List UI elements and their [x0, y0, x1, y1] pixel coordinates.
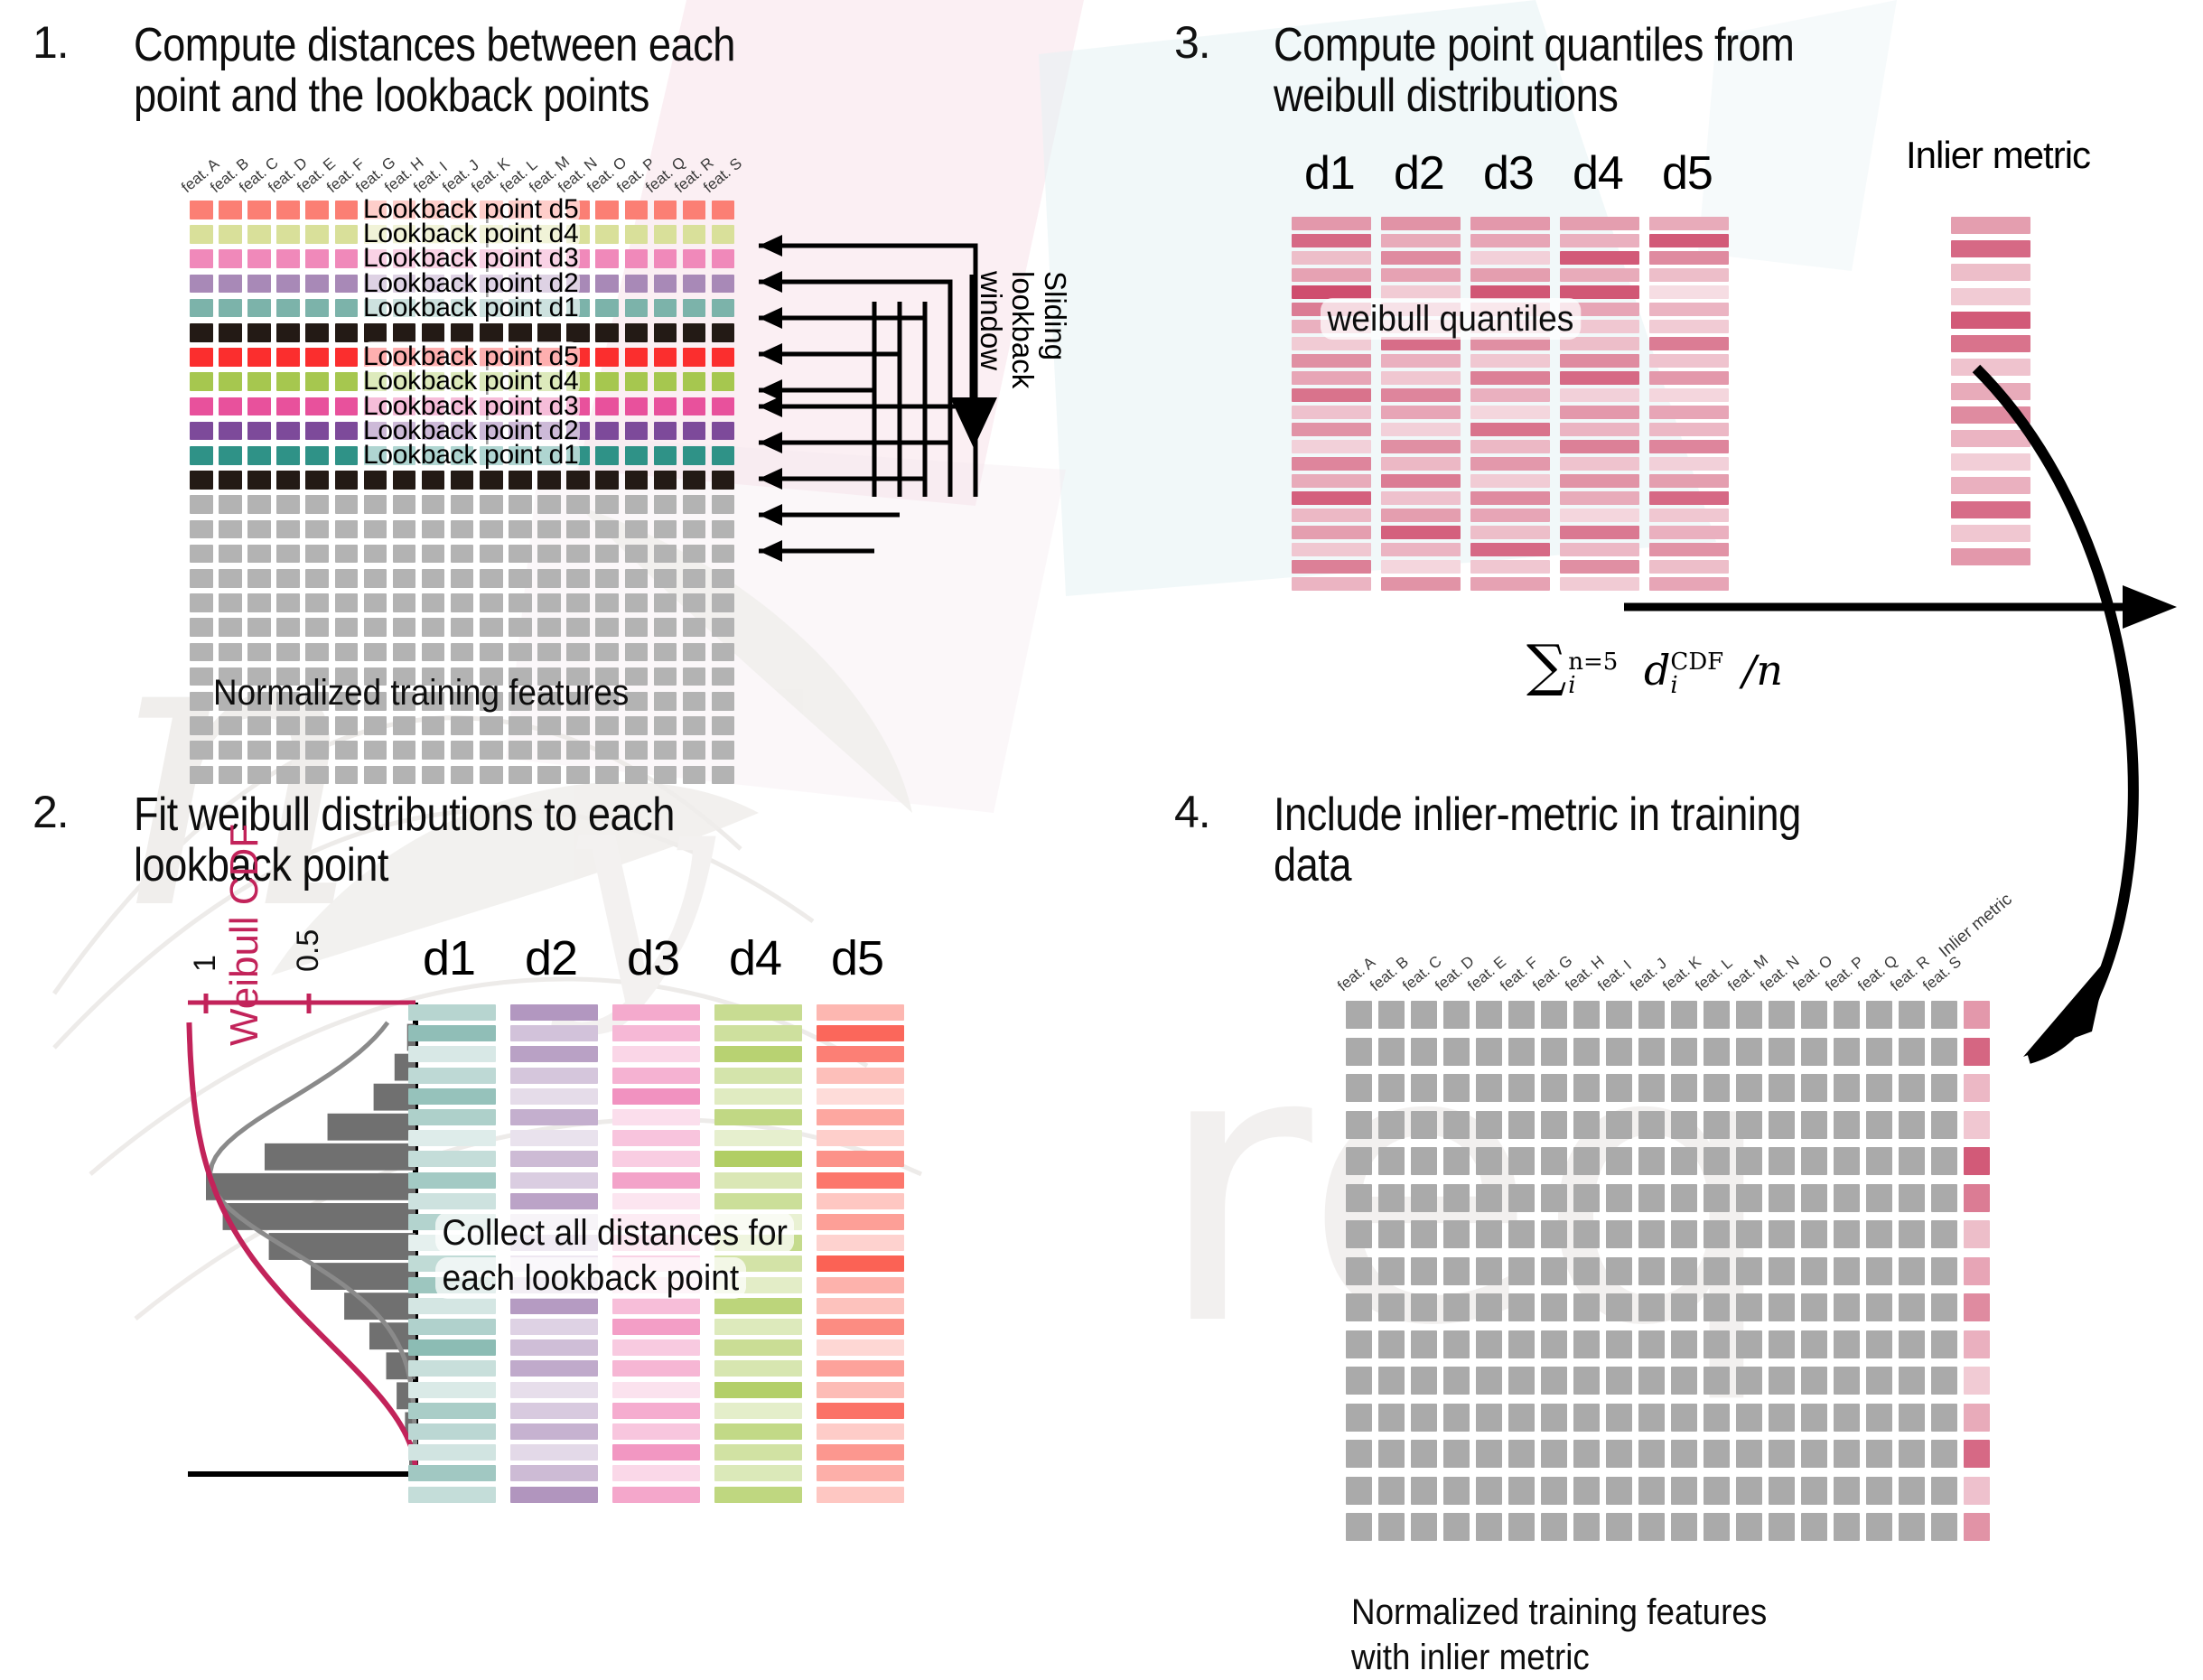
stripe-cell	[1649, 406, 1729, 419]
stripe-cell	[1381, 457, 1461, 471]
stripe-cell	[1292, 543, 1371, 556]
grid-cell	[1736, 1404, 1762, 1432]
grid-cell	[1541, 1184, 1567, 1212]
grid-cell	[1866, 1513, 1892, 1541]
stripe-cell	[1560, 354, 1639, 368]
grid-cell	[1378, 1477, 1405, 1505]
stripe-cell	[1292, 423, 1371, 436]
grid-cell	[1899, 1330, 1925, 1358]
grid-cell	[335, 741, 359, 760]
grid-cell	[1573, 1111, 1600, 1139]
grid-cell	[1931, 1293, 1957, 1321]
grid-cell	[1443, 1477, 1470, 1505]
stripe-cell	[1292, 371, 1371, 385]
stripe-cell	[612, 1360, 700, 1377]
grid-cell	[1476, 1440, 1502, 1468]
stripe-cell	[1381, 543, 1461, 556]
stripe-cell	[714, 1339, 802, 1356]
grid-cell	[1443, 1001, 1470, 1029]
grid-cell	[1378, 1074, 1405, 1102]
stripe-cell	[612, 1487, 700, 1503]
grid-row	[1346, 1111, 1996, 1139]
grid-cell	[1443, 1330, 1470, 1358]
grid-cell	[1411, 1111, 1437, 1139]
grid-cell	[1346, 1330, 1372, 1358]
grid-cell	[1411, 1440, 1437, 1468]
grid-cell	[1834, 1111, 1860, 1139]
grid-cell	[1638, 1220, 1665, 1248]
grid-cell	[1443, 1111, 1470, 1139]
grid-cell	[1411, 1257, 1437, 1285]
stripe-cell	[714, 1088, 802, 1105]
grid-cell	[1801, 1038, 1827, 1066]
grid-cell	[1541, 1404, 1567, 1432]
stripe-cell	[1649, 388, 1729, 402]
stripe-cell	[1292, 577, 1371, 591]
grid-cell	[1411, 1147, 1437, 1175]
grid-cell	[1736, 1111, 1762, 1139]
stripe-cell	[1649, 423, 1729, 436]
grid-cell	[1801, 1220, 1827, 1248]
grid-row	[1346, 1440, 1996, 1468]
inlier-metric-cell	[1964, 1367, 1990, 1395]
grid-cell	[1736, 1184, 1762, 1212]
stripe-cell	[1292, 440, 1371, 453]
grid-cell	[1671, 1440, 1697, 1468]
grid-cell	[1346, 1513, 1372, 1541]
grid-cell	[1931, 1257, 1957, 1285]
grid-cell	[1443, 1367, 1470, 1395]
grid-cell	[1476, 1001, 1502, 1029]
stripe-cell	[510, 1487, 598, 1503]
grid-cell	[1866, 1184, 1892, 1212]
inlier-metric-stripe	[1951, 217, 2030, 234]
grid-cell	[1378, 1038, 1405, 1066]
grid-row	[1346, 1513, 1996, 1541]
stripe-cell	[817, 1004, 904, 1021]
grid-cell	[1671, 1404, 1697, 1432]
grid-cell	[1834, 1038, 1860, 1066]
stripe-cell	[408, 1025, 496, 1041]
grid-cell	[1573, 1513, 1600, 1541]
grid-cell	[1476, 1074, 1502, 1102]
stripe-cell	[1381, 526, 1461, 539]
grid-cell	[1573, 1220, 1600, 1248]
stripe-cell	[714, 1444, 802, 1461]
grid-cell	[1736, 1257, 1762, 1285]
grid-cell	[1866, 1111, 1892, 1139]
stripe-cell	[1381, 234, 1461, 247]
grid-cell	[1573, 1477, 1600, 1505]
stripe-cell	[612, 1025, 700, 1041]
grid-cell	[1704, 1038, 1730, 1066]
grid-cell	[1769, 1404, 1795, 1432]
grid-cell	[1476, 1513, 1502, 1541]
stripe-cell	[714, 1423, 802, 1440]
grid-cell	[1801, 1293, 1827, 1321]
grid-cell	[1801, 1513, 1827, 1541]
grid-cell	[1508, 1440, 1535, 1468]
sliding-window-label: Sliding lookback window	[975, 271, 1071, 388]
grid-cell	[1801, 1074, 1827, 1102]
grid-cell	[1769, 1367, 1795, 1395]
stripe-cell	[612, 1046, 700, 1062]
grid-cell	[1411, 1330, 1437, 1358]
grid-cell	[1541, 1330, 1567, 1358]
stripe-cell	[1649, 543, 1729, 556]
grid-cell	[1606, 1184, 1632, 1212]
grid-cell	[1606, 1074, 1632, 1102]
stripe-cell	[612, 1382, 700, 1398]
stripe-cell	[1560, 388, 1639, 402]
grid-cell	[625, 741, 649, 760]
stripe-cell	[510, 1088, 598, 1105]
stripe-cell	[1292, 354, 1371, 368]
grid-cell	[1476, 1257, 1502, 1285]
stripe-cell	[714, 1130, 802, 1146]
panel-2-overlay-label: Collect all distances for each lookback …	[435, 1165, 873, 1301]
grid-cell	[1378, 1404, 1405, 1432]
stripe-cell	[510, 1130, 598, 1146]
grid-row	[1346, 1293, 1996, 1321]
grid-cell	[1573, 1330, 1600, 1358]
stripe-cell	[408, 1444, 496, 1461]
grid-cell	[1346, 1038, 1372, 1066]
inlier-metric-cell	[1964, 1147, 1990, 1175]
grid-cell	[1834, 1257, 1860, 1285]
grid-cell	[1638, 1404, 1665, 1432]
grid-cell	[1671, 1001, 1697, 1029]
grid-cell	[1801, 1184, 1827, 1212]
stripe-cell	[1381, 371, 1461, 385]
grid-cell	[1541, 1220, 1567, 1248]
inlier-metric-stripe	[1951, 288, 2030, 305]
grid-cell	[1541, 1513, 1567, 1541]
stripe-cell	[714, 1004, 802, 1021]
grid-cell	[1736, 1001, 1762, 1029]
stripe-cell	[408, 1487, 496, 1503]
grid-cell	[1476, 1330, 1502, 1358]
grid-cell	[1508, 1404, 1535, 1432]
grid-cell	[537, 741, 561, 760]
grid-cell	[451, 741, 474, 760]
grid-cell	[1443, 1074, 1470, 1102]
grid-cell	[1801, 1404, 1827, 1432]
grid-cell	[1606, 1330, 1632, 1358]
grid-cell	[1476, 1477, 1502, 1505]
grid-cell	[1769, 1111, 1795, 1139]
grid-cell	[1411, 1404, 1437, 1432]
stripe-cell	[1381, 354, 1461, 368]
grid-cell	[1769, 1477, 1795, 1505]
stripe-cell	[1560, 509, 1639, 522]
grid-cell	[1508, 1477, 1535, 1505]
stripe-cell	[817, 1025, 904, 1041]
stripe-cell	[817, 1382, 904, 1398]
grid-cell	[595, 741, 619, 760]
inlier-metric-stripe	[1951, 240, 2030, 257]
grid-cell	[1736, 1147, 1762, 1175]
stripe-cell	[510, 1025, 598, 1041]
grid-cell	[1801, 1001, 1827, 1029]
grid-cell	[393, 741, 416, 760]
grid-cell	[1671, 1147, 1697, 1175]
grid-cell	[1508, 1513, 1535, 1541]
grid-cell	[1508, 1220, 1535, 1248]
column-header: d4	[1573, 146, 1623, 201]
grid-cell	[1704, 1074, 1730, 1102]
grid-cell	[1704, 1001, 1730, 1029]
stripe-cell	[714, 1025, 802, 1041]
stripe-cell	[510, 1382, 598, 1398]
grid-cell	[247, 741, 271, 760]
stripe-cell	[612, 1109, 700, 1125]
grid-cell	[190, 741, 213, 760]
inlier-metric-transfer-arrow-icon	[1870, 361, 2203, 1102]
grid-cell	[1411, 1477, 1437, 1505]
grid-cell	[1541, 1293, 1567, 1321]
stripe-cell	[1470, 371, 1550, 385]
grid-row	[1346, 1404, 1996, 1432]
grid-cell	[1671, 1074, 1697, 1102]
grid-cell	[1606, 1367, 1632, 1395]
stripe-cell	[1381, 491, 1461, 505]
stripe-cell	[612, 1004, 700, 1021]
grid-cell	[1769, 1001, 1795, 1029]
grid-cell	[1508, 1257, 1535, 1285]
grid-cell	[1541, 1111, 1567, 1139]
stripe-cell	[1292, 560, 1371, 574]
grid-cell	[1671, 1111, 1697, 1139]
grid-cell	[1638, 1257, 1665, 1285]
grid-cell	[1899, 1404, 1925, 1432]
panel-3-inlier-metric-label: Inlier metric	[1906, 134, 2090, 177]
stripe-cell	[714, 1109, 802, 1125]
column-header: d1	[423, 930, 475, 986]
grid-cell	[1931, 1367, 1957, 1395]
grid-cell	[1346, 1404, 1372, 1432]
stripe-cell	[1649, 440, 1729, 453]
grid-row	[1346, 1367, 1996, 1395]
stripe-cell	[714, 1465, 802, 1481]
grid-cell	[1541, 1001, 1567, 1029]
grid-cell	[1378, 1111, 1405, 1139]
grid-cell	[1638, 1001, 1665, 1029]
grid-cell	[1899, 1257, 1925, 1285]
inlier-metric-cell	[1964, 1257, 1990, 1285]
grid-cell	[1866, 1330, 1892, 1358]
grid-cell	[1866, 1293, 1892, 1321]
stripe-cell	[1470, 543, 1550, 556]
grid-cell	[1736, 1513, 1762, 1541]
grid-cell	[1606, 1513, 1632, 1541]
grid-cell	[1834, 1184, 1860, 1212]
grid-cell	[1834, 1147, 1860, 1175]
grid-cell	[1606, 1147, 1632, 1175]
grid-cell	[1899, 1147, 1925, 1175]
grid-cell	[1704, 1477, 1730, 1505]
stripe-cell	[1560, 560, 1639, 574]
stripe-cell	[1649, 474, 1729, 488]
stripe-cell	[1560, 234, 1639, 247]
stripe-cell	[1649, 457, 1729, 471]
stripe-cell	[1470, 509, 1550, 522]
grid-cell	[1346, 1367, 1372, 1395]
grid-cell	[1346, 1001, 1372, 1029]
grid-cell	[1834, 1220, 1860, 1248]
grid-cell	[1704, 1440, 1730, 1468]
stripe-cell	[1292, 217, 1371, 230]
grid-cell	[1704, 1147, 1730, 1175]
grid-cell	[654, 741, 677, 760]
inlier-metric-cell	[1964, 1513, 1990, 1541]
grid-cell	[422, 741, 445, 760]
stripe-cell	[1292, 509, 1371, 522]
grid-cell	[1736, 1074, 1762, 1102]
grid-cell	[1671, 1184, 1697, 1212]
stripe-cell	[408, 1046, 496, 1062]
grid-cell	[1801, 1111, 1827, 1139]
grid-cell	[1704, 1184, 1730, 1212]
stripe-cell	[408, 1465, 496, 1481]
stripe-cell	[408, 1319, 496, 1335]
grid-cell	[1801, 1330, 1827, 1358]
grid-cell	[1606, 1404, 1632, 1432]
grid-cell	[1931, 1404, 1957, 1432]
grid-cell	[1931, 1184, 1957, 1212]
grid-cell	[219, 741, 242, 760]
grid-cell	[1638, 1293, 1665, 1321]
grid-cell	[1931, 1477, 1957, 1505]
grid-cell	[1899, 1477, 1925, 1505]
column-header: d2	[1394, 146, 1444, 201]
grid-cell	[1573, 1257, 1600, 1285]
grid-cell	[566, 741, 590, 760]
grid-cell	[1378, 1147, 1405, 1175]
grid-cell	[1671, 1038, 1697, 1066]
grid-cell	[1541, 1257, 1567, 1285]
lookback-point-row-label: Lookback point d1	[361, 293, 580, 323]
grid-cell	[1931, 1513, 1957, 1541]
grid-cell	[1378, 1001, 1405, 1029]
stripe-cell	[510, 1465, 598, 1481]
stripe-cell	[714, 1487, 802, 1503]
grid-cell	[1736, 1293, 1762, 1321]
grid-cell	[1638, 1111, 1665, 1139]
grid-cell	[1443, 1220, 1470, 1248]
grid-cell	[1736, 1038, 1762, 1066]
grid-cell	[1378, 1330, 1405, 1358]
stripe-cell	[1381, 406, 1461, 419]
stripe-cell	[817, 1109, 904, 1125]
grid-cell	[1508, 1111, 1535, 1139]
stripe-cell	[714, 1360, 802, 1377]
grid-cell	[1573, 1440, 1600, 1468]
grid-cell	[1671, 1367, 1697, 1395]
grid-cell	[1801, 1257, 1827, 1285]
grid-cell	[1834, 1074, 1860, 1102]
stripe-cell	[817, 1339, 904, 1356]
stripe-cell	[612, 1319, 700, 1335]
stripe-cell	[1381, 474, 1461, 488]
column-header: d2	[525, 930, 577, 986]
grid-cell	[1508, 1367, 1535, 1395]
grid-cell	[1508, 1038, 1535, 1066]
grid-cell	[1346, 1440, 1372, 1468]
inlier-metric-cell	[1964, 1184, 1990, 1212]
stripe-cell	[1292, 457, 1371, 471]
stripe-cell	[612, 1444, 700, 1461]
stripe-cell	[1649, 354, 1729, 368]
grid-cell	[1411, 1367, 1437, 1395]
grid-cell	[1704, 1367, 1730, 1395]
grid-row	[1346, 1257, 1996, 1285]
stripe-cell	[510, 1046, 598, 1062]
grid-cell	[683, 741, 706, 760]
grid-cell	[1671, 1293, 1697, 1321]
stripe-cell	[510, 1068, 598, 1084]
feature-label: feat. J	[1627, 955, 1670, 995]
stripe-cell	[817, 1487, 904, 1503]
column-header: d3	[1483, 146, 1534, 201]
stripe-cell	[1649, 526, 1729, 539]
grid-cell	[1801, 1367, 1827, 1395]
stripe-cell	[817, 1046, 904, 1062]
stripe-cell	[1470, 388, 1550, 402]
stripe-cell	[1381, 217, 1461, 230]
stripe-cell	[1470, 491, 1550, 505]
grid-cell	[1508, 1074, 1535, 1102]
grid-cell	[1866, 1440, 1892, 1468]
grid-cell	[1606, 1477, 1632, 1505]
grid-cell	[1834, 1477, 1860, 1505]
grid-cell	[1866, 1477, 1892, 1505]
stripe-cell	[1649, 234, 1729, 247]
grid-cell	[1476, 1184, 1502, 1212]
stripe-cell	[1381, 577, 1461, 591]
stripe-cell	[1381, 440, 1461, 453]
grid-cell	[1606, 1293, 1632, 1321]
stripe-cell	[1292, 406, 1371, 419]
grid-cell	[1769, 1184, 1795, 1212]
grid-cell	[1899, 1513, 1925, 1541]
stripe-cell	[1292, 388, 1371, 402]
grid-cell	[1476, 1404, 1502, 1432]
inlier-metric-cell	[1964, 1404, 1990, 1432]
stripe-cell	[510, 1339, 598, 1356]
stripe-cell	[817, 1068, 904, 1084]
grid-cell	[1476, 1147, 1502, 1175]
grid-cell	[1899, 1220, 1925, 1248]
grid-cell	[1931, 1111, 1957, 1139]
grid-cell	[1573, 1184, 1600, 1212]
grid-row	[1346, 1184, 1996, 1212]
grid-cell	[1573, 1001, 1600, 1029]
grid-cell	[1866, 1257, 1892, 1285]
stripe-cell	[1560, 457, 1639, 471]
grid-cell	[1834, 1513, 1860, 1541]
grid-cell	[1638, 1330, 1665, 1358]
grid-cell	[1638, 1477, 1665, 1505]
inlier-metric-cell	[1964, 1111, 1990, 1139]
grid-cell	[1508, 1001, 1535, 1029]
stripe-cell	[1560, 543, 1639, 556]
grid-cell	[1638, 1184, 1665, 1212]
stripe-cell	[1381, 560, 1461, 574]
grid-cell	[1346, 1184, 1372, 1212]
stripe-cell	[1560, 491, 1639, 505]
grid-cell	[1671, 1477, 1697, 1505]
